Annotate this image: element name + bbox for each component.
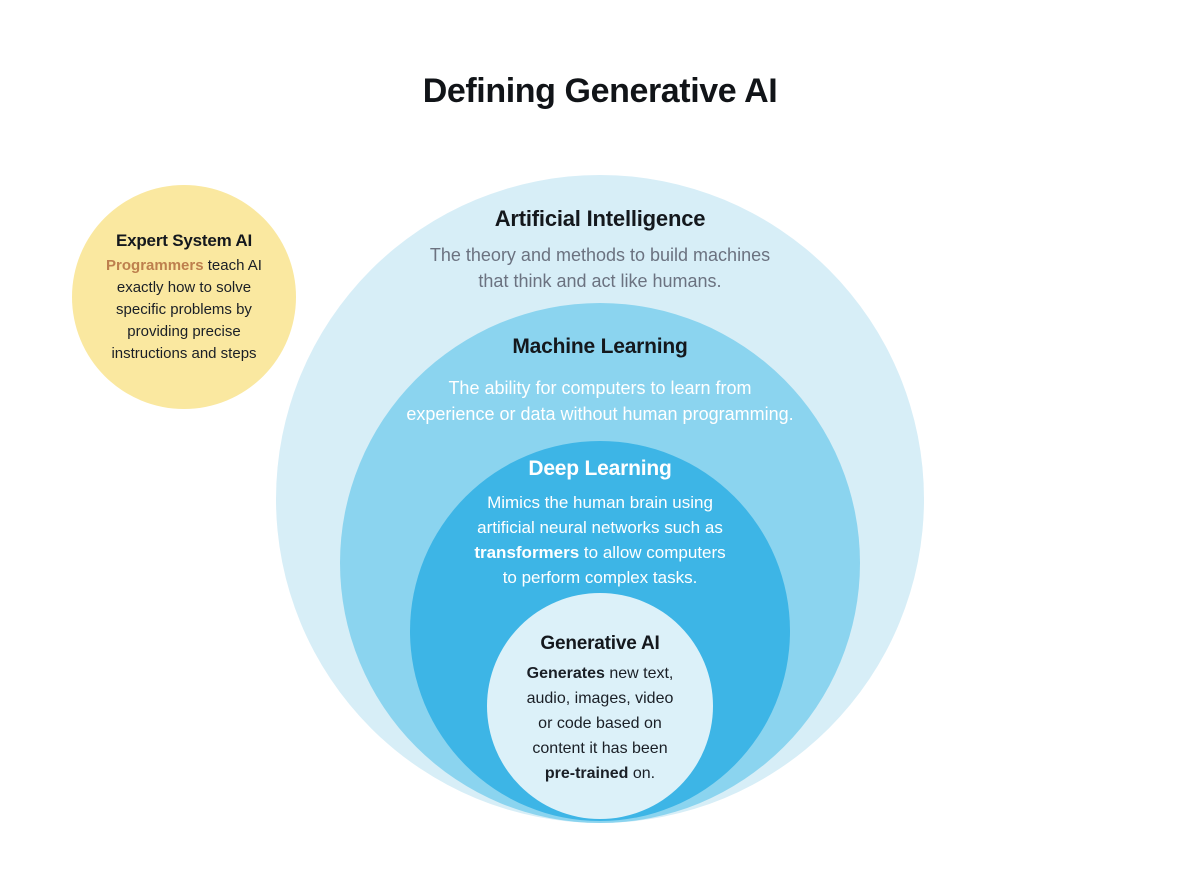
body-line: teach AI bbox=[204, 257, 262, 274]
label-machine-learning: Machine Learning The ability for compute… bbox=[330, 332, 870, 427]
body-line: Mimics the human brain using bbox=[487, 493, 713, 512]
body-line: or code based on bbox=[538, 715, 662, 732]
body-line: instructions and steps bbox=[111, 345, 256, 362]
heading-expert-system-ai: Expert System AI bbox=[78, 228, 290, 253]
body-line: providing precise bbox=[127, 323, 240, 340]
label-deep-learning: Deep Learning Mimics the human brain usi… bbox=[420, 454, 780, 590]
body-expert-system-ai: Programmers teach AI exactly how to solv… bbox=[78, 255, 290, 365]
body-line: artificial neural networks such as bbox=[477, 518, 723, 537]
label-expert-system-ai: Expert System AI Programmers teach AI ex… bbox=[78, 228, 290, 365]
body-line: that think and act like humans. bbox=[478, 271, 721, 291]
heading-artificial-intelligence: Artificial Intelligence bbox=[330, 204, 870, 234]
body-line: experience or data without human program… bbox=[406, 404, 793, 424]
body-line: to perform complex tasks. bbox=[503, 568, 698, 587]
body-line: content it has been bbox=[532, 740, 667, 757]
body-deep-learning: Mimics the human brain using artificial … bbox=[420, 490, 780, 590]
body-accent-programmers: Programmers bbox=[106, 257, 204, 274]
body-line: new text, bbox=[605, 665, 673, 682]
body-line: to allow computers bbox=[579, 543, 725, 562]
page-title: Defining Generative AI bbox=[0, 72, 1200, 111]
heading-machine-learning: Machine Learning bbox=[330, 332, 870, 361]
label-artificial-intelligence: Artificial Intelligence The theory and m… bbox=[330, 204, 870, 294]
body-line: specific problems by bbox=[116, 301, 252, 318]
body-line: The ability for computers to learn from bbox=[448, 378, 751, 398]
body-artificial-intelligence: The theory and methods to build machines… bbox=[330, 242, 870, 294]
body-machine-learning: The ability for computers to learn from … bbox=[330, 375, 870, 427]
body-emphasis-pre-trained: pre-trained bbox=[545, 765, 629, 782]
body-generative-ai: Generates new text, audio, images, video… bbox=[495, 661, 705, 786]
heading-generative-ai: Generative AI bbox=[495, 630, 705, 657]
diagram-canvas: Defining Generative AI Artificial Intell… bbox=[0, 0, 1200, 896]
body-line: on. bbox=[628, 765, 655, 782]
heading-deep-learning: Deep Learning bbox=[420, 454, 780, 483]
body-emphasis-generates: Generates bbox=[527, 665, 605, 682]
body-line: exactly how to solve bbox=[117, 279, 251, 296]
body-line: audio, images, video bbox=[527, 690, 674, 707]
body-line: The theory and methods to build machines bbox=[430, 245, 770, 265]
body-emphasis-transformers: transformers bbox=[474, 543, 579, 562]
label-generative-ai: Generative AI Generates new text, audio,… bbox=[495, 630, 705, 786]
